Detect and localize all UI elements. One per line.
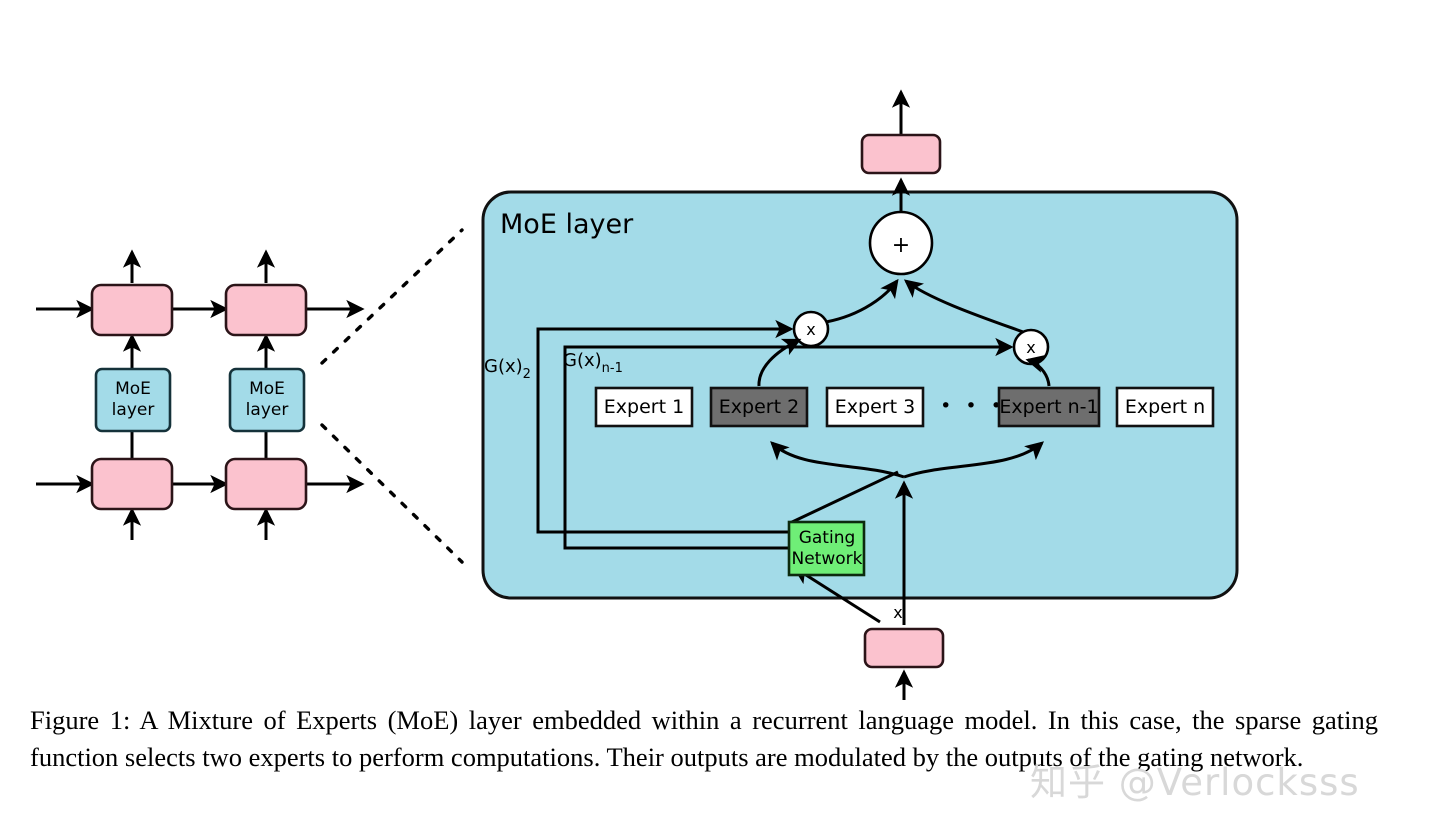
recurrent-cell1-moe-label-line1: MoE [115, 379, 151, 399]
recurrent-cell2-moe-label-line1: MoE [249, 379, 285, 399]
mul-node-left-symbol: x [806, 320, 815, 339]
expert-label-3: Expert 3 [835, 396, 915, 418]
recurrent-cell1-moe-label-line2: layer [112, 400, 155, 420]
moe-output-block[interactable] [862, 135, 940, 173]
expert-label-n-1: Expert n-1 [999, 396, 1098, 418]
recurrent-cell2-moe-label-line2: layer [246, 400, 289, 420]
zoom-connector-lines [322, 230, 462, 562]
gating-network-label-line1: Gating [799, 528, 856, 548]
zoom-connector-lower [322, 425, 462, 562]
figure-caption: Figure 1: A Mixture of Experts (MoE) lay… [30, 702, 1378, 776]
recurrent-cell2-top-block[interactable] [226, 285, 306, 335]
experts-ellipsis: • • • [940, 395, 1006, 417]
expert-label-n: Expert n [1125, 396, 1205, 418]
recurrent-network: MoE layer MoE layer [36, 252, 362, 540]
expert-label-2: Expert 2 [719, 396, 799, 418]
experts-row: Expert 1 Expert 2 Expert 3 • • • Expert … [596, 388, 1213, 426]
gating-network-label-line2: Network [792, 549, 863, 569]
sum-node-symbol: + [892, 233, 910, 258]
figure-container: MoE layer MoE layer MoE layer [0, 0, 1440, 836]
moe-layer-title: MoE layer [500, 209, 634, 240]
recurrent-cell1-top-block[interactable] [92, 285, 172, 335]
moe-input-symbol: x [893, 603, 902, 622]
recurrent-cell1-bottom-block[interactable] [92, 459, 172, 509]
expert-label-1: Expert 1 [604, 396, 684, 418]
moe-output-group: + [862, 92, 940, 274]
moe-diagram: MoE layer MoE layer MoE layer [0, 0, 1440, 700]
recurrent-cell2-bottom-block[interactable] [226, 459, 306, 509]
mul-node-right-symbol: x [1026, 338, 1035, 357]
moe-input-block[interactable] [865, 629, 943, 667]
zoom-connector-upper [322, 230, 462, 363]
